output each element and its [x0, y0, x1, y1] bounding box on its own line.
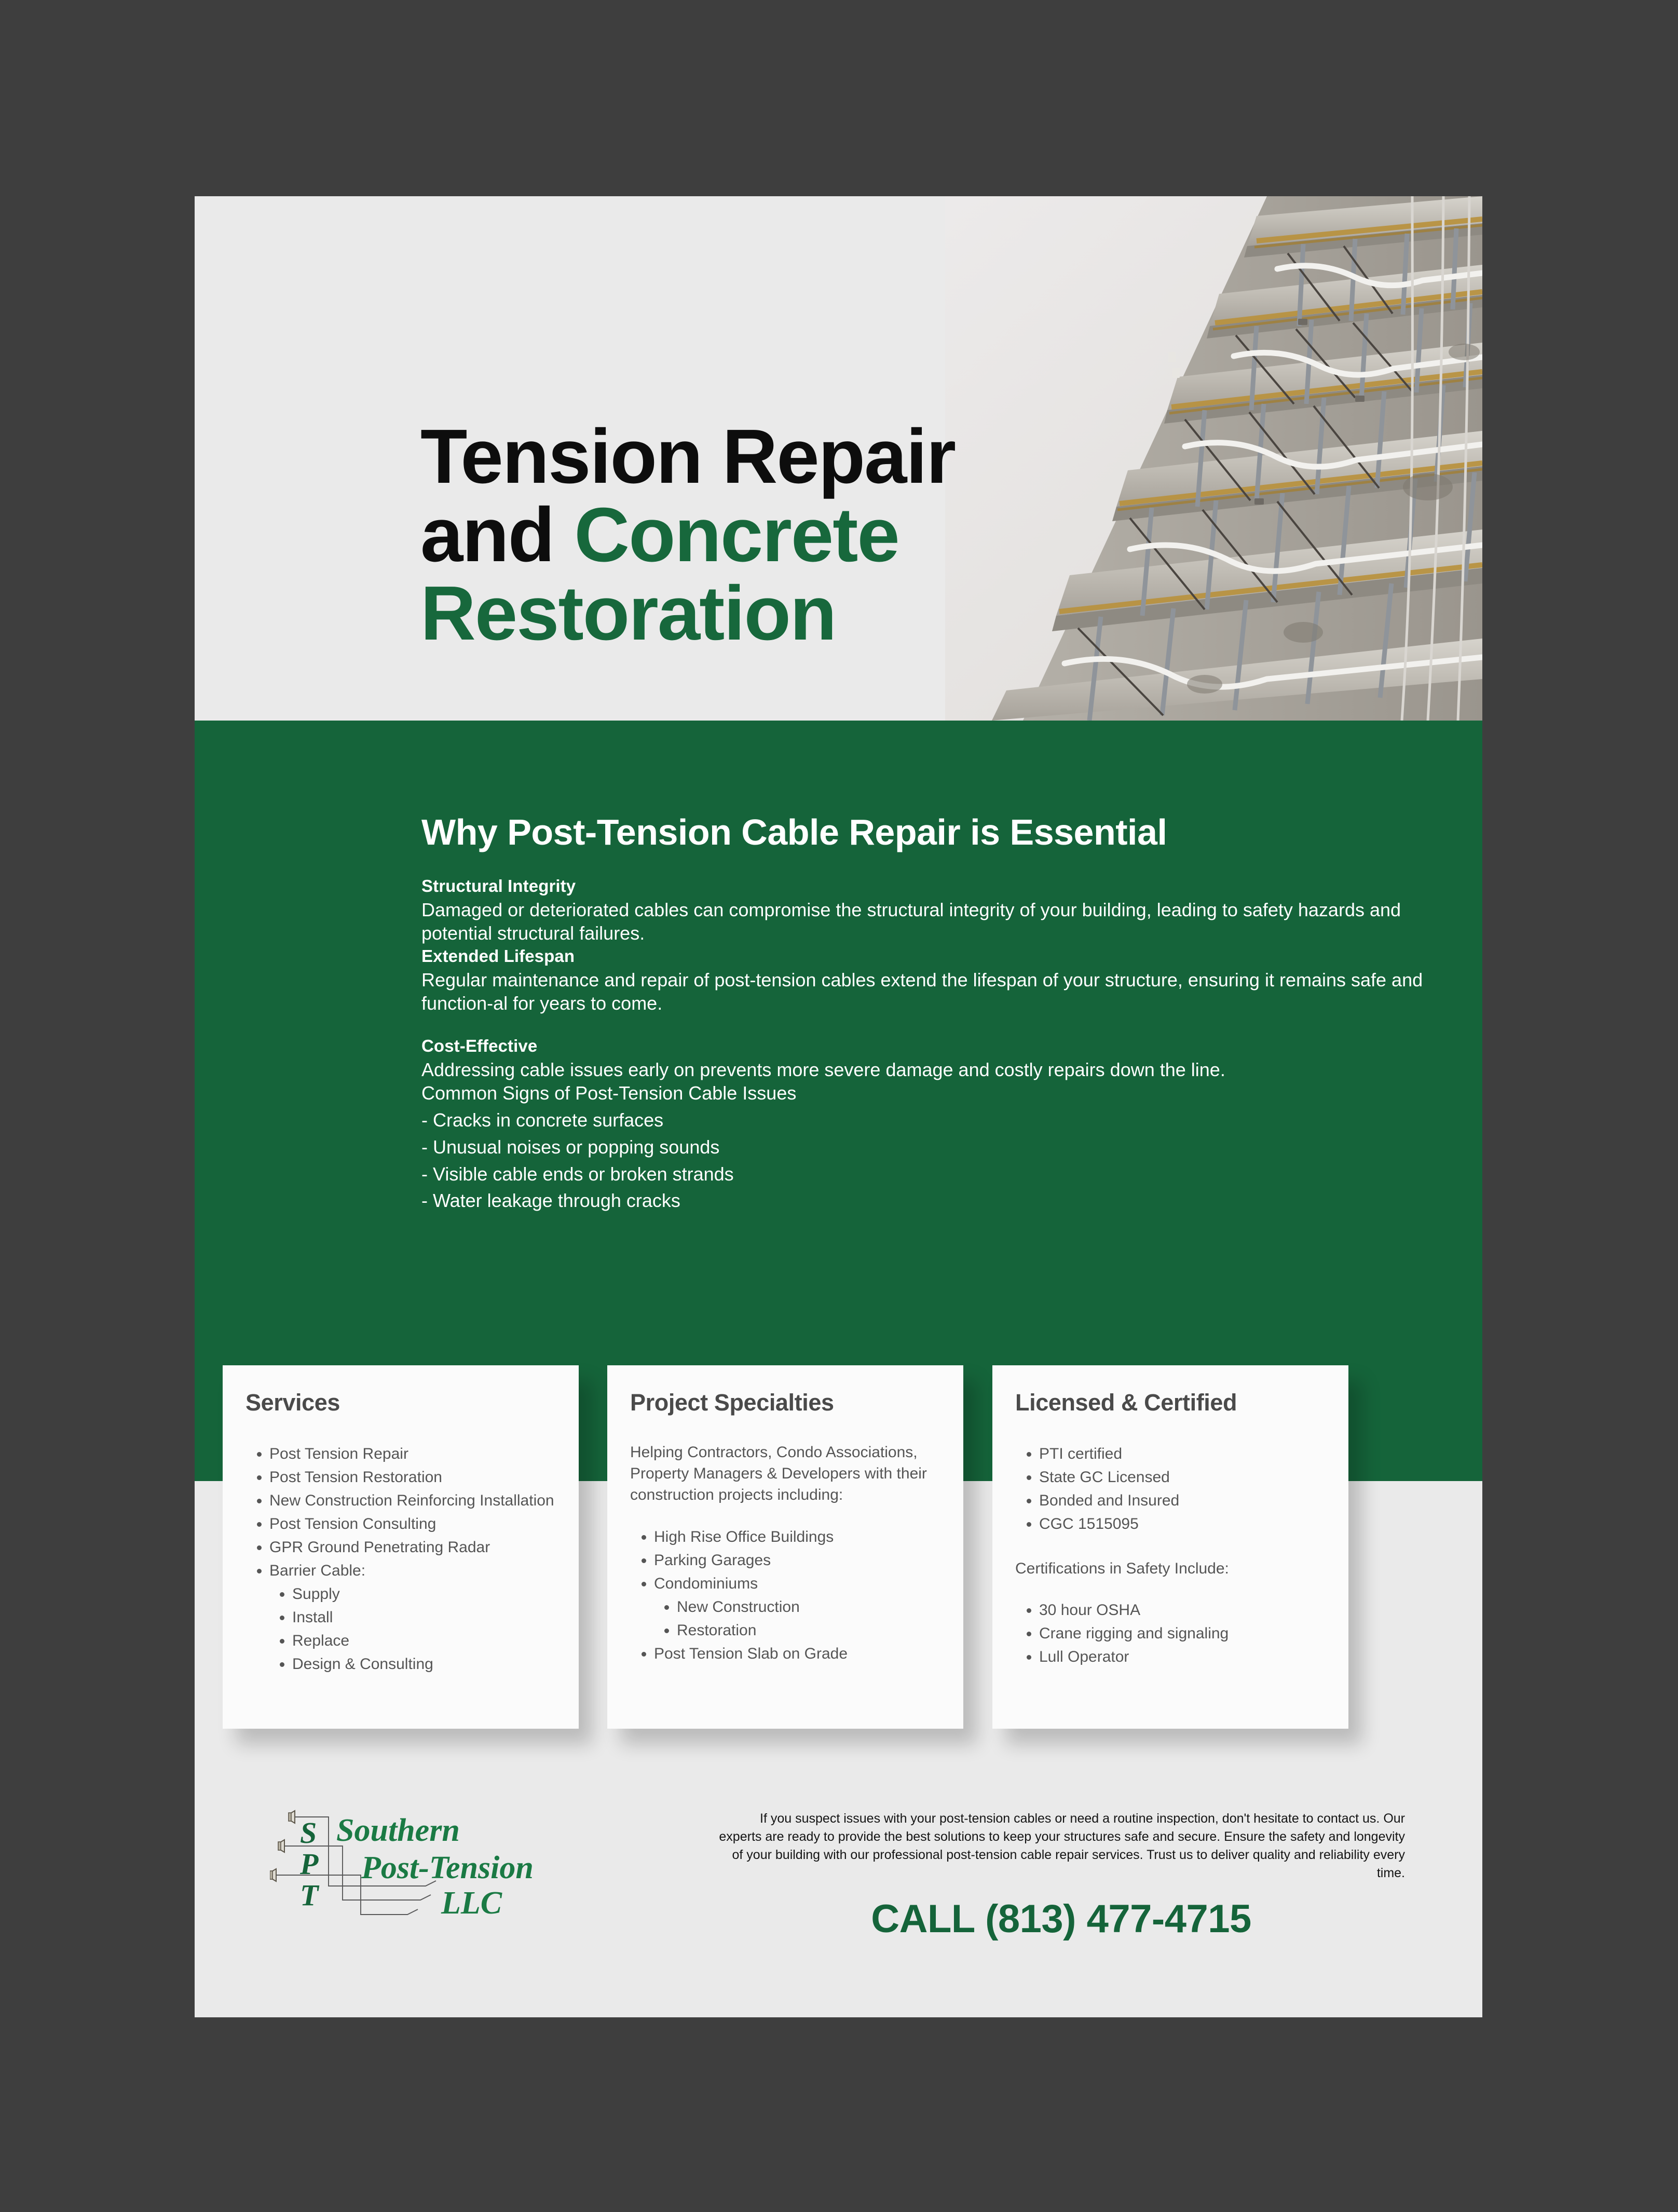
company-logo: S P T Southern Post-Tension LLC	[270, 1806, 612, 1925]
logo-name-line-3: LLC	[441, 1885, 502, 1921]
southern-post-tension-logo: S P T Southern Post-Tension LLC	[270, 1806, 612, 1925]
title-line-1: Tension Repair	[420, 414, 955, 499]
list-item: Condominiums New Construction Restoratio…	[654, 1572, 940, 1642]
list-item: Supply	[292, 1582, 556, 1606]
anchor-plate-icon	[278, 1840, 284, 1852]
card-lead-text: Helping Contractors, Condo Associations,…	[630, 1442, 940, 1505]
sign-item: - Unusual noises or popping sounds	[421, 1134, 734, 1161]
list-item: GPR Ground Penetrating Radar	[269, 1536, 556, 1559]
benefit-title: Structural Integrity	[421, 876, 1470, 896]
logo-letter-s: S	[300, 1816, 317, 1850]
card-project-specialties: Project Specialties Helping Contractors,…	[607, 1365, 963, 1729]
footer-paragraph: If you suspect issues with your post-ten…	[717, 1810, 1405, 1882]
list-item-label: Barrier Cable:	[269, 1562, 365, 1579]
list-item: PTI certified	[1039, 1442, 1326, 1465]
credentials-list: PTI certified State GC Licensed Bonded a…	[1015, 1442, 1326, 1536]
list-item: State GC Licensed	[1039, 1465, 1326, 1489]
safety-certifications-heading: Certifications in Safety Include:	[1015, 1558, 1326, 1580]
list-item: Parking Garages	[654, 1549, 940, 1572]
info-cards-row: Services Post Tension Repair Post Tensio…	[195, 1365, 1482, 1760]
list-item: Design & Consulting	[292, 1652, 556, 1676]
benefit-body: Regular maintenance and repair of post-t…	[421, 968, 1470, 1015]
title-line-2-black: and	[420, 492, 574, 578]
card-title: Project Specialties	[630, 1389, 940, 1416]
logo-letter-p: P	[299, 1847, 319, 1881]
list-item: Replace	[292, 1629, 556, 1652]
logo-letter-t: T	[300, 1878, 320, 1912]
sign-item: - Visible cable ends or broken strands	[421, 1161, 734, 1188]
list-item: CGC 1515095	[1039, 1512, 1326, 1536]
list-item: Post Tension Repair	[269, 1442, 556, 1465]
list-item: Barrier Cable: Supply Install Replace De…	[269, 1559, 556, 1676]
sign-item: - Cracks in concrete surfaces	[421, 1107, 734, 1134]
common-signs-heading: Common Signs of Post-Tension Cable Issue…	[421, 1081, 1470, 1105]
anchor-plate-icon	[270, 1869, 276, 1881]
card-services: Services Post Tension Repair Post Tensio…	[223, 1365, 579, 1729]
benefit-cost-effective: Cost-Effective Addressing cable issues e…	[421, 1036, 1470, 1105]
sign-item: - Water leakage through cracks	[421, 1187, 734, 1214]
list-item: Restoration	[677, 1619, 940, 1642]
benefit-title: Cost-Effective	[421, 1036, 1470, 1056]
list-item: Install	[292, 1606, 556, 1629]
card-title: Licensed & Certified	[1015, 1389, 1326, 1416]
footer-section: S P T Southern Post-Tension LLC If you s…	[195, 1769, 1482, 2017]
services-list: Post Tension Repair Post Tension Restora…	[245, 1442, 556, 1676]
card-licensed-certified: Licensed & Certified PTI certified State…	[992, 1365, 1348, 1729]
flyer-page: Tension Repair and Concrete Restoration …	[195, 196, 1482, 2017]
barrier-cable-sublist: Supply Install Replace Design & Consulti…	[269, 1582, 556, 1676]
list-item: High Rise Office Buildings	[654, 1525, 940, 1549]
list-item: Lull Operator	[1039, 1645, 1326, 1668]
list-item: New Construction	[677, 1595, 940, 1619]
list-item: 30 hour OSHA	[1039, 1598, 1326, 1622]
benefit-extended-lifespan: Extended Lifespan Regular maintenance an…	[421, 946, 1470, 1015]
hero-section: Tension Repair and Concrete Restoration …	[195, 196, 1482, 721]
benefit-body: Damaged or deteriorated cables can compr…	[421, 898, 1470, 945]
list-item: Post Tension Restoration	[269, 1465, 556, 1489]
anchor-plate-icon	[289, 1811, 295, 1823]
benefit-body: Addressing cable issues early on prevent…	[421, 1058, 1470, 1081]
title-line-2-green: Concrete	[574, 492, 899, 578]
list-item: New Construction Reinforcing Installatio…	[269, 1489, 556, 1512]
safety-certifications-list: 30 hour OSHA Crane rigging and signaling…	[1015, 1598, 1326, 1668]
call-to-action[interactable]: CALL (813) 477-4715	[717, 1896, 1405, 1942]
list-item: Post Tension Slab on Grade	[654, 1642, 940, 1665]
list-item: Crane rigging and signaling	[1039, 1622, 1326, 1645]
call-label: CALL	[871, 1897, 985, 1941]
list-item: Bonded and Insured	[1039, 1489, 1326, 1512]
page-title: Tension Repair and Concrete Restoration	[420, 418, 1033, 653]
logo-name-line-2: Post-Tension	[361, 1850, 534, 1885]
phone-number[interactable]: (813) 477-4715	[985, 1897, 1251, 1941]
benefit-title: Extended Lifespan	[421, 946, 1470, 966]
why-section-heading: Why Post-Tension Cable Repair is Essenti…	[421, 811, 1167, 853]
benefit-structural-integrity: Structural Integrity Damaged or deterior…	[421, 876, 1470, 945]
title-line-3-green: Restoration	[420, 571, 836, 656]
logo-name-line-1: Southern	[336, 1813, 460, 1848]
specialties-list: High Rise Office Buildings Parking Garag…	[630, 1525, 940, 1665]
list-item-label: Condominiums	[654, 1575, 758, 1592]
list-item: Post Tension Consulting	[269, 1512, 556, 1536]
card-title: Services	[245, 1389, 556, 1416]
condominiums-sublist: New Construction Restoration	[654, 1595, 940, 1642]
common-signs-list: - Cracks in concrete surfaces - Unusual …	[421, 1107, 734, 1214]
